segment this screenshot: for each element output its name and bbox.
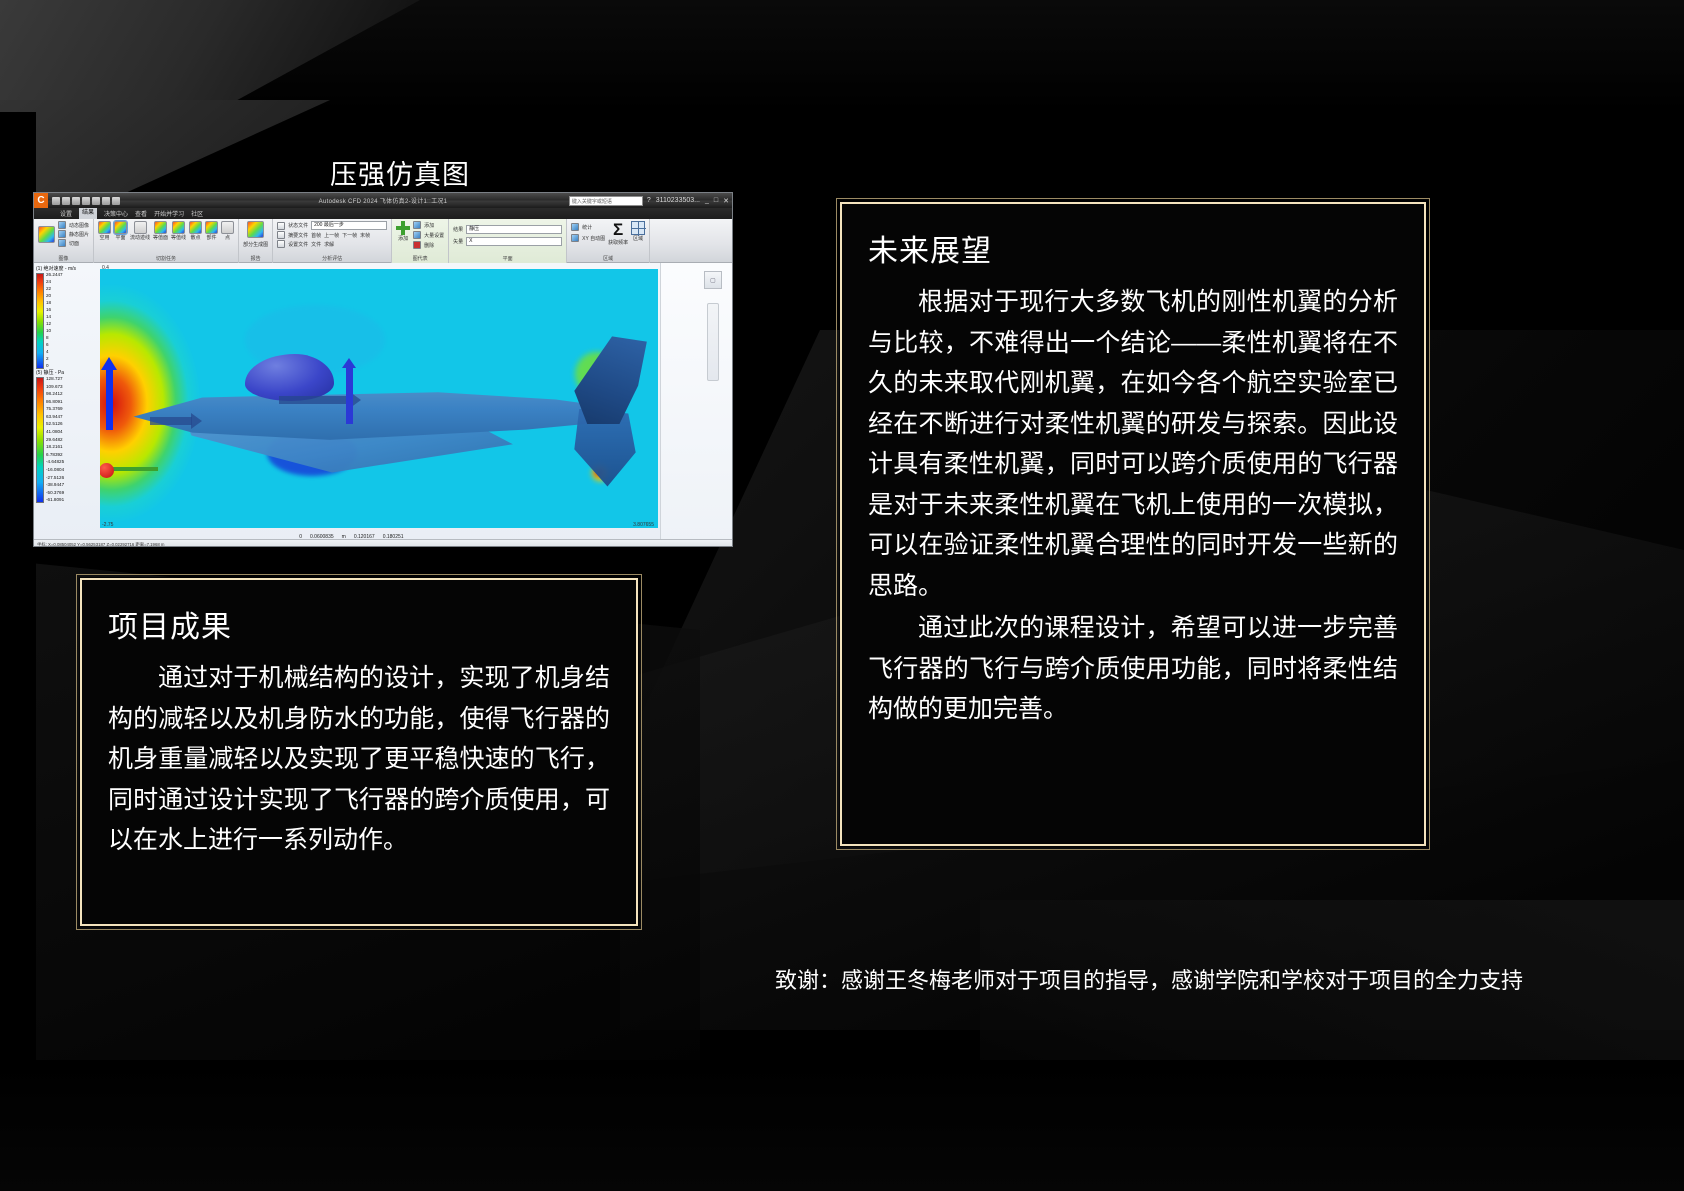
future-outlook-title: 未来展望 (868, 226, 1398, 270)
ribbon-group-report: 部分生成图 报告 (239, 219, 273, 263)
ribbon-group-plane: 结果 静压 矢量 X 平面 (449, 219, 567, 263)
pressure-tick: -4.64825 (46, 460, 64, 465)
background-facet-bottom-band (0, 1060, 1684, 1191)
part-label: 部件 (207, 234, 217, 241)
cfd-ribbon-tabs[interactable]: 设置 结果 决策中心 查看 开始并学习 社区 (34, 208, 732, 219)
slice-label: 切面 (69, 240, 79, 247)
cfd-title-bar: C Autodesk CFD 2024 飞体仿真2-设计1::工况1 键入关键字… (34, 193, 732, 208)
velocity-tick: 2 (46, 357, 63, 362)
result-field-label: 结果 (453, 226, 463, 233)
tab-community[interactable]: 社区 (191, 209, 203, 218)
help-icon[interactable]: ? (646, 197, 652, 204)
pressure-tick: 86.8091 (46, 400, 64, 405)
variable-field-label: 矢量 (453, 238, 463, 245)
ribbon-group-plot: 添加 添加 大量设置 删除 图代表 (392, 219, 449, 263)
ribbon-group-plot-label: 图代表 (396, 255, 444, 263)
ribbon-group-plane-label: 平面 (453, 255, 562, 263)
close-icon[interactable]: ✕ (722, 197, 730, 205)
general-label: 空用 (100, 234, 110, 241)
summary-data-icon[interactable] (38, 226, 55, 243)
restore-icon[interactable]: □ (713, 197, 719, 204)
isosurface-label: 等值面 (153, 234, 168, 241)
isoline-icon[interactable] (172, 221, 185, 234)
aircraft-tail-fin (574, 336, 647, 424)
velocity-legend-title: (1) 绝对速度 - m/s (36, 265, 98, 272)
pressure-legend: (5) 静压 - Pa 128.727 109.673 98.2412 86.8… (36, 369, 98, 503)
add-label: 添加 (398, 235, 408, 242)
sum-sigma-icon[interactable]: Σ (613, 221, 623, 239)
get-frequency-label: 获取频率 (608, 239, 628, 246)
streamline-icon[interactable] (134, 221, 147, 234)
pressure-tick: 75.3769 (46, 407, 64, 412)
pressure-tick: 6.78392 (46, 453, 64, 458)
isosurface-icon[interactable] (154, 221, 167, 234)
velocity-tick: 24 (46, 280, 63, 285)
report-generate-label: 部分生成图 (243, 241, 268, 248)
velocity-tick: 6 (46, 343, 63, 348)
pressure-tick: 98.2412 (46, 392, 64, 397)
plane-label: 平面 (116, 234, 126, 241)
pressure-tick: -61.8091 (46, 498, 64, 503)
ribbon-group-image-label: 图像 (38, 255, 89, 263)
edit-label: 添加 (424, 222, 434, 229)
page-title: 压强仿真图 (330, 153, 470, 192)
prev-frame-button[interactable]: 上一帧 (324, 232, 339, 239)
ribbon-group-region: 统计 XY 自动图 Σ 获取频率 区域 区域 (567, 219, 650, 263)
part-icon[interactable] (205, 221, 218, 234)
cfd-logo-icon: C (34, 193, 48, 208)
dynamic-image-label: 动态图像 (69, 222, 89, 229)
results-title: 项目成果 (108, 602, 610, 646)
status-file-label: 状态文件 (288, 222, 308, 229)
streamline-label: 流动迹线 (130, 234, 150, 241)
view-cube-icon[interactable]: ▢ (704, 271, 722, 289)
cfd-viewport[interactable]: (1) 绝对速度 - m/s 26.2447 24 22 20 18 16 14… (34, 263, 732, 547)
slide-canvas: 压强仿真图 C Autodesk CFD 2024 飞体仿真2-设计1::工况1… (0, 0, 1684, 1191)
minimize-icon[interactable]: _ (704, 197, 710, 204)
pressure-tick: 109.673 (46, 385, 64, 390)
status-file-icon[interactable] (277, 222, 285, 230)
pressure-tick: -50.3769 (46, 491, 64, 496)
next-frame-button[interactable]: 下一帧 (342, 232, 357, 239)
axis-arrow-x (112, 467, 158, 471)
tab-settings[interactable]: 设置 (60, 209, 72, 218)
pressure-tick: 18.2161 (46, 445, 64, 450)
cfd-right-panel: ▢ (660, 263, 732, 547)
velocity-color-bar (36, 273, 44, 369)
cfd-ribbon: 动态图像 静态图片 切面 图像 空用 平面 流动迹线 等值面 等值线 散点 部件 (34, 219, 732, 263)
point-icon[interactable] (221, 221, 234, 234)
results-paragraph: 通过对于机械结构的设计，实现了机身结构的减轻以及机身防水的功能，使得飞行器的机身… (108, 658, 610, 861)
undo-icon[interactable] (62, 197, 70, 205)
file-button[interactable]: 文件 (311, 241, 321, 248)
open-icon[interactable] (92, 197, 100, 205)
new-icon[interactable] (52, 197, 60, 205)
background-facet-top (0, 0, 1684, 112)
tab-decision-center[interactable]: 决策中心 (104, 209, 128, 218)
summary-file-label: 摘要文件 (288, 232, 308, 239)
ribbon-group-report-label: 报告 (243, 255, 268, 263)
aircraft-fuselage (133, 388, 624, 440)
ribbon-group-analysis-label: 分析评估 (277, 255, 387, 263)
result-select[interactable]: 静压 (466, 225, 562, 234)
velocity-tick: 14 (46, 315, 63, 320)
delete-icon[interactable] (413, 241, 421, 249)
velocity-tick: 22 (46, 287, 63, 292)
account-label[interactable]: 3110233503... (655, 197, 701, 204)
region-item-label: 区域 (633, 235, 643, 242)
ribbon-group-region-label: 区域 (571, 255, 645, 263)
axis-arrow-mid-vertical (346, 367, 353, 424)
solve-button[interactable]: 求解 (324, 241, 334, 248)
future-outlook-panel: 未来展望 根据对于现行大多数飞机的刚性机翼的分析与比较，不难得出一个结论——柔性… (840, 202, 1426, 846)
pressure-tick: 52.5126 (46, 422, 64, 427)
dynamic-image-icon[interactable] (58, 221, 66, 229)
aircraft-canopy (245, 354, 334, 401)
cfd-contour-plot (100, 269, 658, 528)
tab-view[interactable]: 查看 (135, 209, 147, 218)
help-search-input[interactable]: 键入关键字或短语 (569, 196, 643, 206)
pressure-legend-title: (5) 静压 - Pa (36, 369, 98, 376)
last-frame-button[interactable]: 末帧 (360, 232, 370, 239)
cfd-screenshot: C Autodesk CFD 2024 飞体仿真2-设计1::工况1 键入关键字… (33, 192, 733, 547)
velocity-tick: 20 (46, 294, 63, 299)
velocity-tick: 8 (46, 336, 63, 341)
redo-icon[interactable] (72, 197, 80, 205)
pressure-color-bar (36, 377, 44, 503)
pressure-tick: -27.5126 (46, 476, 64, 481)
bulk-settings-icon[interactable] (413, 231, 421, 239)
cfd-status-bar: 坐标: X=0.08504052 Y=0.56253187 Z=0.022927… (34, 539, 732, 547)
delete-label: 删除 (424, 242, 434, 249)
static-image-icon[interactable] (58, 230, 66, 238)
pressure-tick: 63.9447 (46, 415, 64, 420)
bulk-settings-label: 大量设置 (424, 232, 444, 239)
plane-icon[interactable] (114, 221, 127, 234)
general-icon[interactable] (98, 221, 111, 234)
viewport-label-bottom-right: 3.807655 (633, 522, 654, 528)
axis-arrow-y (106, 369, 113, 430)
axis-origin-marker (100, 463, 114, 478)
results-panel: 项目成果 通过对于机械结构的设计，实现了机身结构的减轻以及机身防水的功能，使得飞… (80, 578, 638, 926)
future-outlook-paragraph-1: 根据对于现行大多数飞机的刚性机翼的分析与比较，不难得出一个结论——柔性机翼将在不… (868, 282, 1398, 606)
summary-file-icon[interactable] (277, 231, 285, 239)
region-grid-icon[interactable] (631, 221, 645, 235)
flow-arrow-mid (279, 396, 351, 404)
ribbon-group-image: 动态图像 静态图片 切面 图像 (34, 219, 94, 263)
xy-autoplot-label: XY 自动图 (582, 235, 605, 242)
xy-autoplot-icon[interactable] (571, 234, 579, 242)
statistics-icon[interactable] (571, 223, 579, 231)
pressure-tick: 29.6482 (46, 438, 64, 443)
cfd-title-right-controls: 键入关键字或短语 ? 3110233503... _ □ ✕ (569, 193, 730, 208)
velocity-tick: 4 (46, 350, 63, 355)
pressure-tick: 128.727 (46, 377, 64, 382)
step-select[interactable]: 200 最后一步 (311, 221, 387, 230)
print-icon[interactable] (102, 197, 110, 205)
scatter-label: 散点 (191, 234, 201, 241)
slice-icon[interactable] (58, 239, 66, 247)
variable-select[interactable]: X (466, 237, 562, 246)
pressure-tick: -16.0804 (46, 468, 64, 473)
save-icon[interactable] (82, 197, 90, 205)
velocity-tick: 18 (46, 301, 63, 306)
tab-results[interactable]: 结果 (79, 208, 97, 219)
statistics-label: 统计 (582, 224, 592, 231)
velocity-tick: 16 (46, 308, 63, 313)
navigation-bar[interactable] (707, 303, 719, 381)
acknowledgement-text: 致谢：感谢王冬梅老师对于项目的指导，感谢学院和学校对于项目的全力支持 (775, 963, 1675, 995)
velocity-tick: 26.2447 (46, 273, 63, 278)
velocity-tick: 12 (46, 322, 63, 327)
tab-start-learn[interactable]: 开始并学习 (154, 209, 184, 218)
future-outlook-paragraph-2: 通过此次的课程设计，希望可以进一步完善飞行器的飞行与跨介质使用功能，同时将柔性结… (868, 608, 1398, 730)
first-frame-button[interactable]: 首帧 (311, 232, 321, 239)
customize-icon[interactable] (112, 197, 120, 205)
quick-access-toolbar[interactable] (48, 197, 120, 205)
background-facet-left-band (0, 112, 36, 1060)
velocity-legend: (1) 绝对速度 - m/s 26.2447 24 22 20 18 16 14… (36, 265, 98, 369)
velocity-tick: 10 (46, 329, 63, 334)
settings-file-label: 设置文件 (288, 241, 308, 248)
scatter-icon[interactable] (189, 221, 202, 234)
report-generate-icon[interactable] (247, 221, 264, 238)
flow-arrow-front (150, 417, 192, 425)
point-label: 点 (225, 234, 230, 241)
ribbon-group-cut-tasks-label: 切割任务 (98, 255, 234, 263)
ribbon-group-cut-tasks: 空用 平面 流动迹线 等值面 等值线 散点 部件 点 切割任务 (94, 219, 239, 263)
edit-pencil-icon[interactable] (413, 221, 421, 229)
axis-triad (102, 326, 120, 471)
ribbon-group-analysis: 状态文件 200 最后一步 摘要文件 首帧 上一帧 下一帧 末帧 设置文件 (273, 219, 392, 263)
pressure-tick: -38.9447 (46, 483, 64, 488)
add-plus-icon[interactable] (396, 221, 410, 235)
isoline-label: 等值线 (171, 234, 186, 241)
viewport-label-bottom-left: -2.75 (102, 522, 113, 528)
pressure-tick: 41.0804 (46, 430, 64, 435)
settings-file-icon[interactable] (277, 240, 285, 248)
background-facet-bottom-right (980, 900, 1684, 1191)
static-image-label: 静态图片 (69, 231, 89, 238)
